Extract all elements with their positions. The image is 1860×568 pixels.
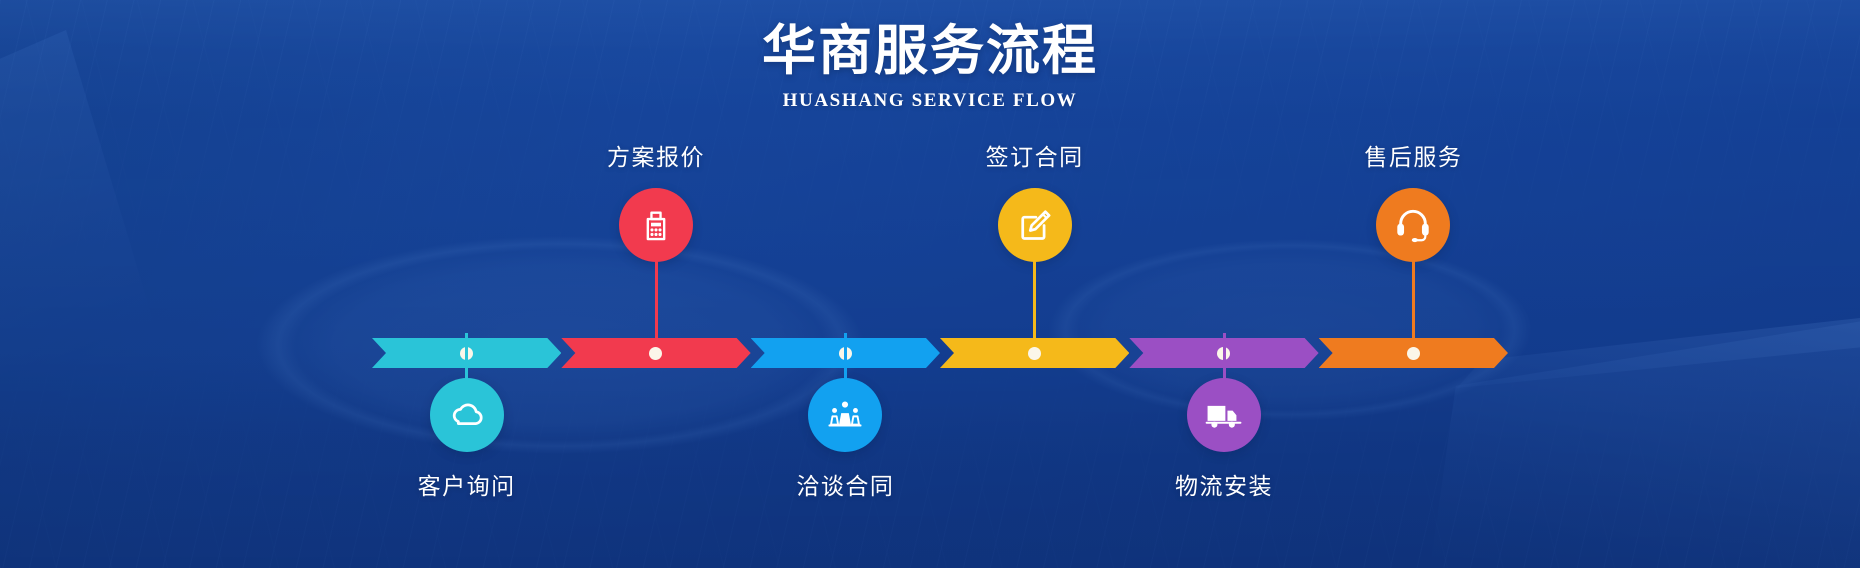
flow-step-connector-3 bbox=[844, 333, 847, 383]
flow-step-icon-bubble-3[interactable] bbox=[808, 378, 882, 452]
flow-step-connector-2 bbox=[655, 253, 658, 343]
flow-step-icon-bubble-1[interactable] bbox=[430, 378, 504, 452]
flow-step-3[interactable]: 洽谈合同 bbox=[745, 378, 945, 501]
flow-step-icon-bubble-5[interactable] bbox=[1187, 378, 1261, 452]
flow-arrow-bar bbox=[372, 338, 1508, 368]
flow-step-connector-6 bbox=[1412, 253, 1415, 343]
flow-step-label-1: 客户询问 bbox=[367, 467, 567, 501]
flow-step-label-4: 签订合同 bbox=[935, 138, 1135, 172]
flow-step-icon-bubble-6[interactable] bbox=[1376, 188, 1450, 262]
service-flow-banner: 华商服务流程 HUASHANG SERVICE FLOW 客户询问方案报价洽谈合… bbox=[0, 0, 1860, 568]
flow-step-2[interactable]: 方案报价 bbox=[556, 138, 756, 262]
page-subtitle: HUASHANG SERVICE FLOW bbox=[0, 90, 1860, 112]
flow-step-connector-1 bbox=[465, 333, 468, 383]
flow-step-connector-5 bbox=[1223, 333, 1226, 383]
cloud-icon bbox=[447, 395, 487, 435]
flow-step-5[interactable]: 物流安装 bbox=[1124, 378, 1324, 501]
flow-marker-dot-6 bbox=[1407, 347, 1420, 360]
flow-step-4[interactable]: 签订合同 bbox=[935, 138, 1135, 262]
flow-marker-dot-2 bbox=[649, 347, 662, 360]
page-title: 华商服务流程 bbox=[0, 21, 1860, 81]
banner-header: 华商服务流程 HUASHANG SERVICE FLOW bbox=[0, 0, 1860, 112]
flow-step-1[interactable]: 客户询问 bbox=[367, 378, 567, 501]
headset-icon bbox=[1392, 204, 1434, 246]
flow-step-label-2: 方案报价 bbox=[556, 138, 756, 172]
flow-step-icon-bubble-4[interactable] bbox=[998, 188, 1072, 262]
flow-step-label-3: 洽谈合同 bbox=[745, 467, 945, 501]
meeting-icon bbox=[825, 395, 865, 435]
flow-step-icon-bubble-2[interactable] bbox=[619, 188, 693, 262]
flow-marker-dot-4 bbox=[1028, 347, 1041, 360]
sign-edit-icon bbox=[1015, 205, 1055, 245]
flow-step-connector-4 bbox=[1033, 253, 1036, 343]
flow-step-label-6: 售后服务 bbox=[1313, 138, 1513, 172]
truck-icon bbox=[1203, 394, 1245, 436]
flow-step-6[interactable]: 售后服务 bbox=[1313, 138, 1513, 262]
flow-step-label-5: 物流安装 bbox=[1124, 467, 1324, 501]
calculator-icon bbox=[636, 205, 676, 245]
